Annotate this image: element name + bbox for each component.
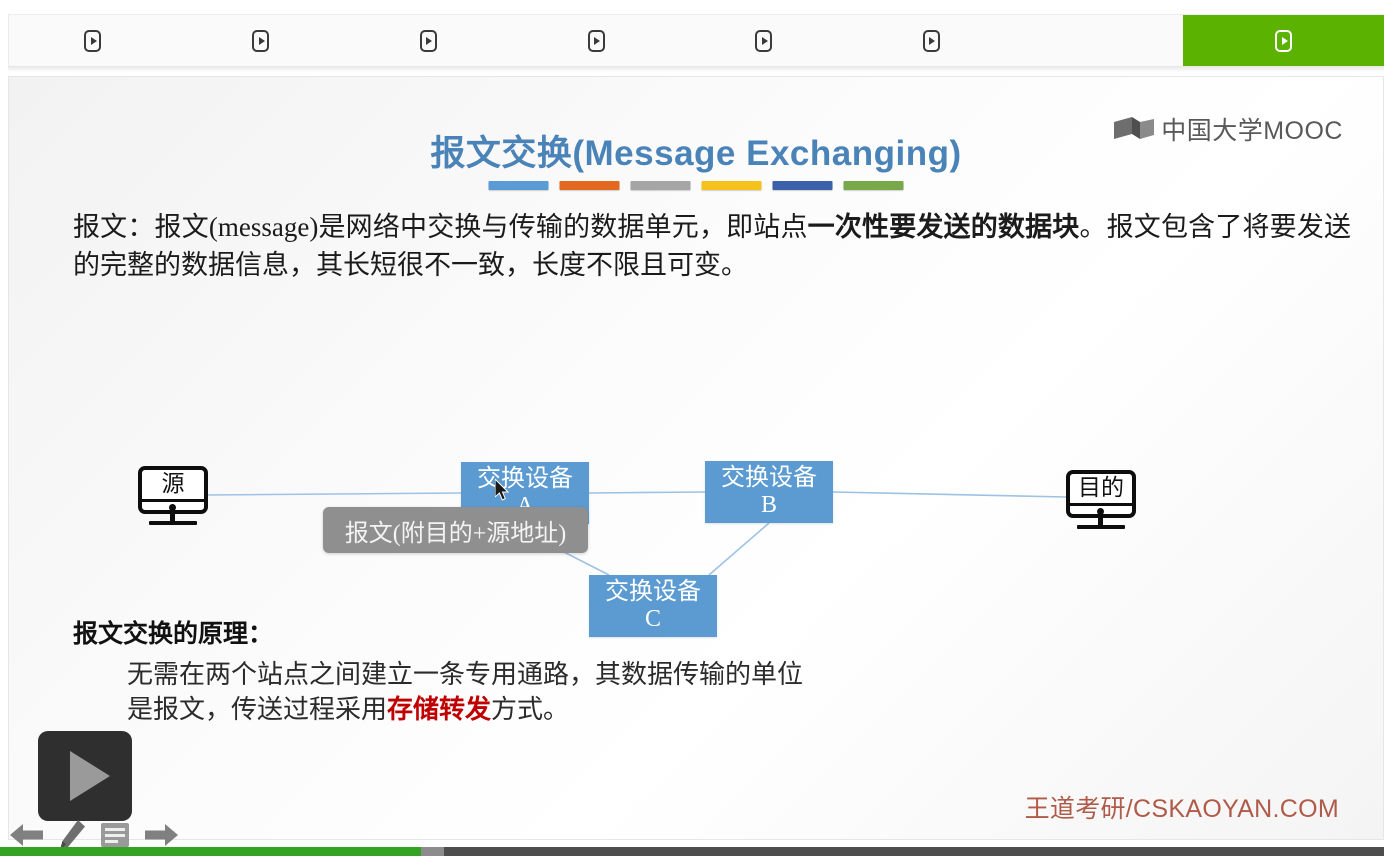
principle-heading: 报文交换的原理： <box>73 614 273 650</box>
tabbar-spacer <box>1015 15 1183 66</box>
switch-node-b-title: 交换设备 <box>721 465 817 492</box>
intro-text-bold: 一次性要发送的数据块 <box>808 212 1080 242</box>
tab-chapter-2[interactable] <box>177 15 345 66</box>
slide-canvas: 中国大学MOOC 报文交换(Message Exchanging) 报文：报文(… <box>8 76 1384 840</box>
intro-paragraph: 报文：报文(message)是网络中交换与传输的数据单元，即站点一次性要发送的数… <box>73 208 1351 285</box>
tab-chapter-1[interactable] <box>9 15 177 66</box>
play-triangle-icon <box>70 751 110 801</box>
switch-node-b: 交换设备 B <box>705 461 833 523</box>
pencil-icon[interactable] <box>58 820 86 850</box>
switch-node-c-id: C <box>645 606 661 633</box>
tabbar-shadow <box>8 66 1384 72</box>
switch-node-a-title: 交换设备 <box>477 466 573 493</box>
endpoint-source-label: 源 <box>162 472 185 495</box>
tab-chapter-3[interactable] <box>344 15 512 66</box>
accent-bar-2 <box>560 181 620 190</box>
switch-node-b-id: B <box>761 492 777 519</box>
tab-chapter-5[interactable] <box>680 15 848 66</box>
principle-body-highlight: 存储转发 <box>387 695 491 724</box>
chapter-tabbar <box>8 14 1384 66</box>
watermark: 王道考研/CSKAOYAN.COM <box>1025 789 1339 825</box>
progress-played <box>0 847 421 856</box>
tab-chapter-4[interactable] <box>512 15 680 66</box>
play-square-icon <box>420 30 437 52</box>
endpoint-destination: 目的 <box>1066 470 1136 534</box>
video-player-page: 中国大学MOOC 报文交换(Message Exchanging) 报文：报文(… <box>0 0 1384 856</box>
arrow-right-icon[interactable] <box>144 821 178 849</box>
title-accent-bars <box>489 181 904 190</box>
endpoint-destination-label: 目的 <box>1078 476 1124 499</box>
video-progress-bar[interactable] <box>0 847 1384 856</box>
principle-body-part2: 方式。 <box>491 695 569 724</box>
play-square-icon <box>923 30 940 52</box>
tab-chapter-7-active[interactable] <box>1183 15 1384 66</box>
document-icon[interactable] <box>100 821 130 849</box>
play-square-icon <box>755 30 772 52</box>
slide-title: 报文交换(Message Exchanging) <box>9 125 1383 176</box>
arrow-left-icon[interactable] <box>10 821 44 849</box>
play-square-icon <box>252 30 269 52</box>
intro-text-part1: 报文：报文(message)是网络中交换与传输的数据单元，即站点 <box>73 212 808 242</box>
accent-bar-3 <box>631 181 691 190</box>
message-tooltip: 报文(附目的+源地址) <box>323 507 588 553</box>
accent-bar-4 <box>702 181 762 190</box>
accent-bar-5 <box>773 181 833 190</box>
message-switching-diagram: 源 目的 交换设备 A 交换设备 B 交换设备 C <box>9 367 1384 597</box>
accent-bar-6 <box>844 181 904 190</box>
player-controls <box>10 820 178 850</box>
switch-node-c-title: 交换设备 <box>605 579 701 606</box>
switch-node-c: 交换设备 C <box>589 575 717 637</box>
principle-body: 无需在两个站点之间建立一条专用通路，其数据传输的单位是报文，传送过程采用存储转发… <box>127 657 827 727</box>
play-square-icon <box>1275 30 1292 52</box>
endpoint-source: 源 <box>138 466 208 530</box>
tab-chapter-6[interactable] <box>848 15 1016 66</box>
mouse-pointer-icon <box>495 479 511 503</box>
play-square-icon <box>588 30 605 52</box>
play-button-overlay[interactable] <box>38 731 132 821</box>
diagram-links <box>9 367 1384 597</box>
accent-bar-1 <box>489 181 549 190</box>
play-square-icon <box>84 30 101 52</box>
